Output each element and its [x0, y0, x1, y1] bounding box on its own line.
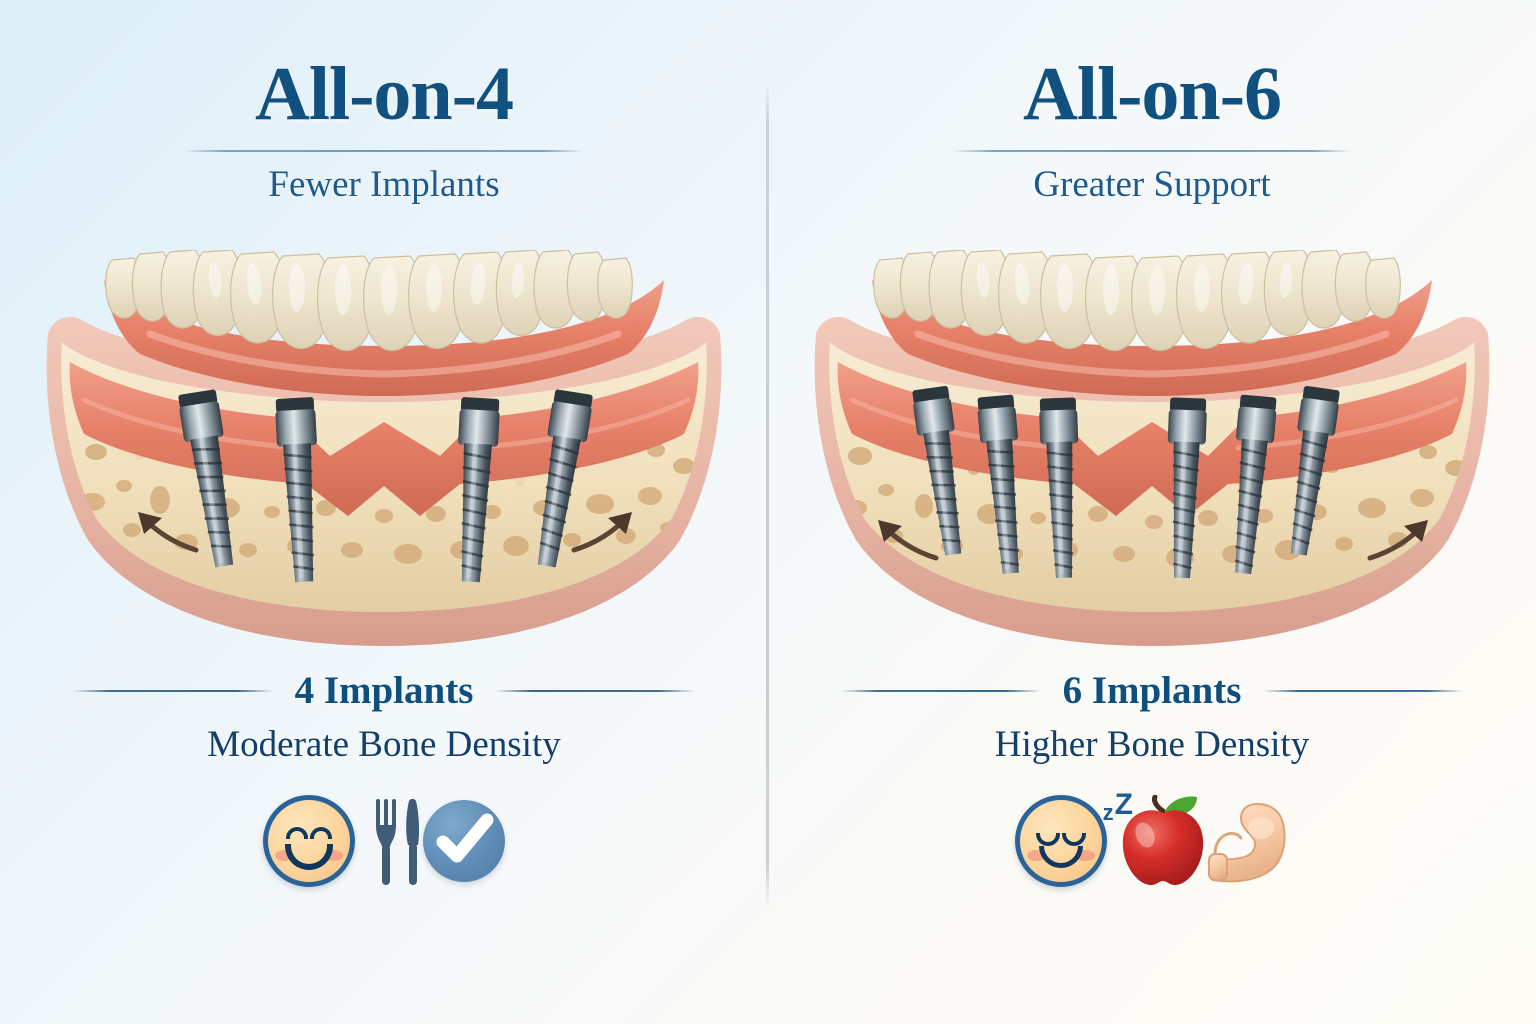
smiling-face-icon — [263, 795, 355, 887]
benefit-icon-row-right: zZ — [768, 795, 1536, 887]
flexed-biceps-icon — [1203, 798, 1289, 884]
bone-density-label: Moderate Bone Density — [0, 723, 768, 766]
mouth-smile — [1039, 846, 1083, 868]
sleeping-face-icon: zZ — [1015, 795, 1107, 887]
count-rule-left — [73, 690, 273, 692]
count-rule-right — [495, 690, 695, 692]
jaw-illustration-all-on-6 — [768, 250, 1536, 660]
mouth-smile — [285, 844, 333, 870]
implant-count-row: 4 Implants — [0, 668, 768, 713]
panel-all-on-4: All-on-4 Fewer Implants — [0, 0, 768, 1024]
bicep-highlight — [1248, 817, 1274, 839]
check-mark-icon — [423, 800, 505, 882]
panel-title: All-on-4 — [0, 56, 768, 132]
title-underline — [184, 150, 584, 152]
implant-count-label: 4 Implants — [295, 668, 474, 713]
panel-title: All-on-6 — [768, 56, 1536, 132]
implant-count-row: 6 Implants — [768, 668, 1536, 713]
eye-left — [286, 827, 308, 839]
fist — [1209, 854, 1227, 880]
panel-subtitle: Greater Support — [768, 163, 1536, 206]
apple-body — [1123, 810, 1203, 885]
knife-icon — [405, 799, 423, 885]
eye-right — [310, 827, 332, 839]
count-rule-right — [1263, 690, 1463, 692]
red-apple-icon — [1115, 795, 1211, 887]
implant-count-label: 6 Implants — [1063, 668, 1242, 713]
eye-left-closed — [1036, 833, 1060, 846]
panel-subtitle: Fewer Implants — [0, 163, 768, 206]
zzz-small: z — [1103, 800, 1114, 825]
bone-density-label: Higher Bone Density — [768, 723, 1536, 766]
muscle-crease — [1215, 834, 1241, 855]
benefit-icon-row-left — [0, 795, 768, 887]
check-glyph — [423, 800, 505, 882]
apple-stem — [1154, 797, 1163, 811]
count-rule-left — [841, 690, 1041, 692]
jaw-illustration-all-on-4 — [0, 250, 768, 660]
fork-icon — [375, 799, 397, 885]
title-underline — [952, 150, 1352, 152]
infographic-canvas: All-on-4 Fewer Implants — [0, 0, 1536, 1024]
eye-right-closed — [1062, 833, 1086, 846]
panel-all-on-6: All-on-6 Greater Support — [768, 0, 1536, 1024]
